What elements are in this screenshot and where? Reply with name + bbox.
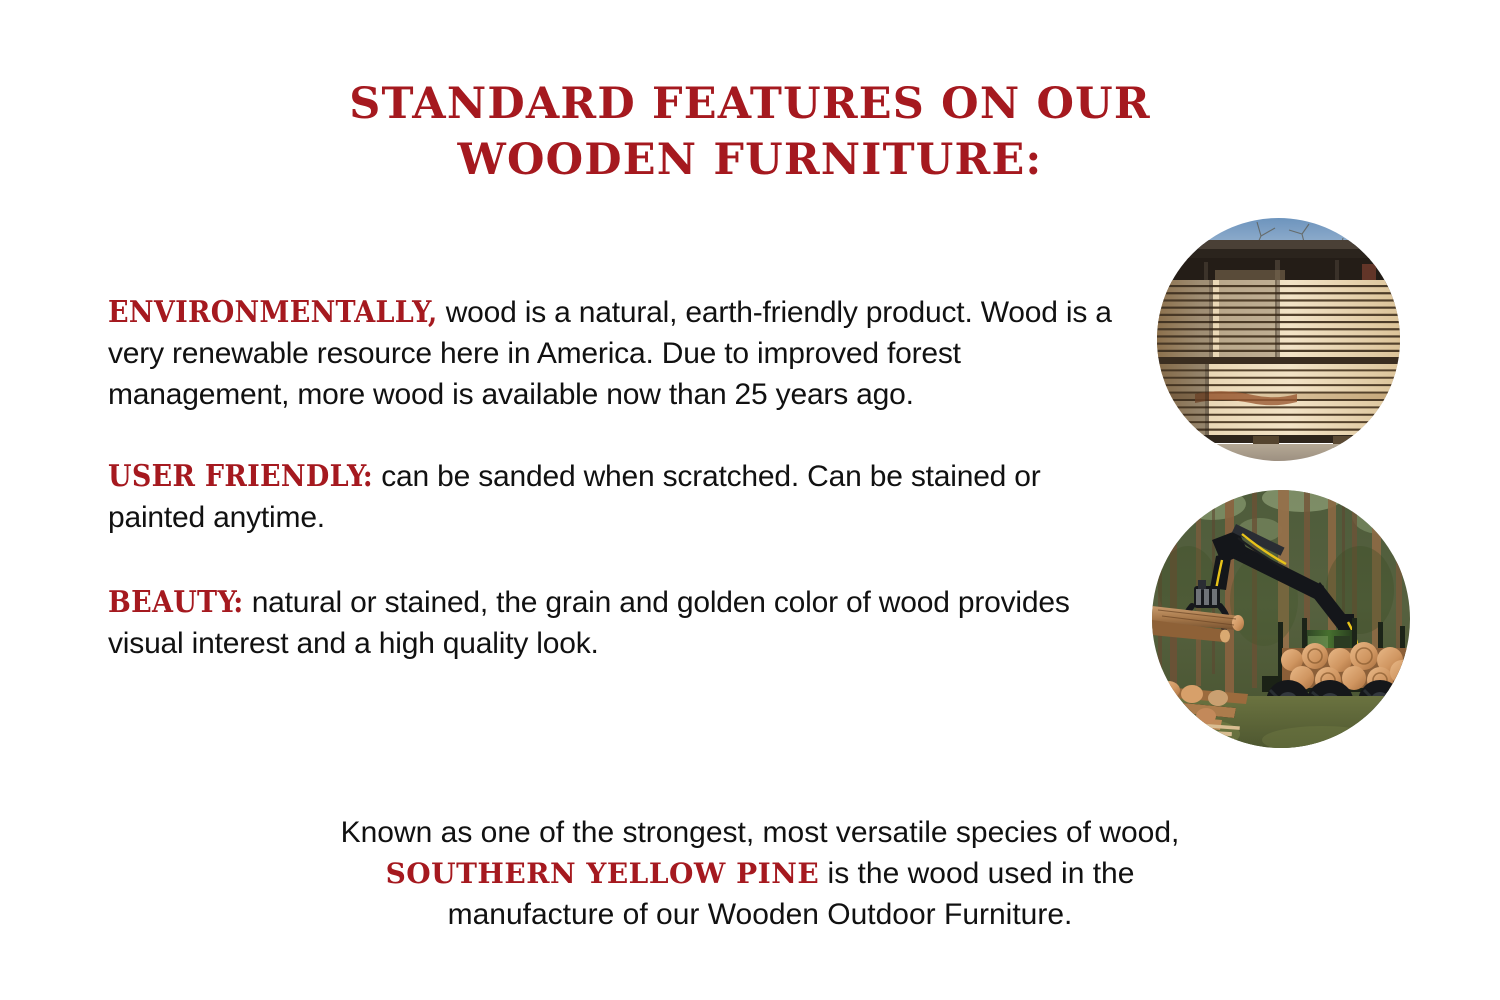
lumber-stacks-photo	[1157, 218, 1400, 461]
feature-beauty-lead: BEAUTY:	[108, 585, 244, 620]
feature-user-friendly-lead: USER FRIENDLY:	[108, 459, 373, 494]
page-title-line-2: WOODEN FURNITURE:	[190, 132, 1310, 188]
footer-line-3: manufacture of our Wooden Outdoor Furnit…	[170, 894, 1350, 935]
features-list: ENVIRONMENTALLY, wood is a natural, eart…	[108, 262, 1138, 694]
feature-environmentally-lead: ENVIRONMENTALLY,	[108, 295, 438, 330]
footer-line-1: Known as one of the strongest, most vers…	[170, 812, 1350, 853]
forestry-harvester-photo	[1152, 490, 1410, 748]
footer-line-2: SOUTHERN YELLOW PINE is the wood used in…	[170, 853, 1350, 894]
footer-highlight-southern-yellow-pine: SOUTHERN YELLOW PINE	[386, 857, 820, 890]
feature-beauty-body: natural or stained, the grain and golden…	[108, 586, 1070, 660]
page-title: STANDARD FEATURES ON OUR WOODEN FURNITUR…	[190, 76, 1310, 188]
page-title-line-1: STANDARD FEATURES ON OUR	[190, 76, 1310, 132]
footer-line-2-tail: is the wood used in the	[819, 857, 1134, 890]
feature-user-friendly: USER FRIENDLY: can be sanded when scratc…	[108, 456, 1138, 538]
feature-beauty: BEAUTY: natural or stained, the grain an…	[108, 582, 1138, 664]
feature-environmentally: ENVIRONMENTALLY, wood is a natural, eart…	[108, 292, 1138, 415]
footer-statement: Known as one of the strongest, most vers…	[170, 812, 1350, 935]
